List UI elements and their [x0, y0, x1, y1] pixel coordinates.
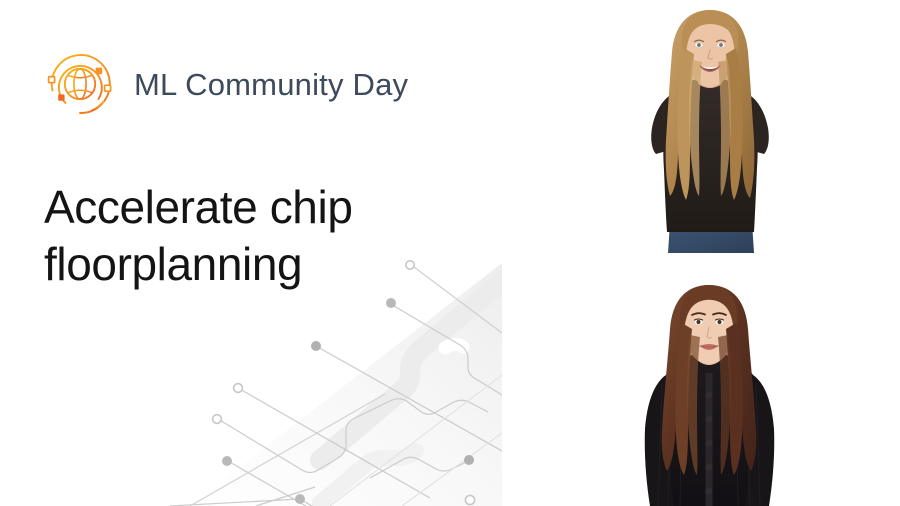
brand-wordmark: ML Community Day [134, 69, 408, 100]
speaker-photo-top [622, 0, 798, 253]
speaker-photo-bottom [618, 277, 800, 506]
brand-lockup: ML Community Day [40, 44, 408, 124]
globe-orbit-logo-icon [40, 44, 120, 124]
presentation-slide: ML Community Day Accelerate chip floorpl… [0, 0, 900, 506]
page-title: Accelerate chip floorplanning [44, 179, 564, 293]
